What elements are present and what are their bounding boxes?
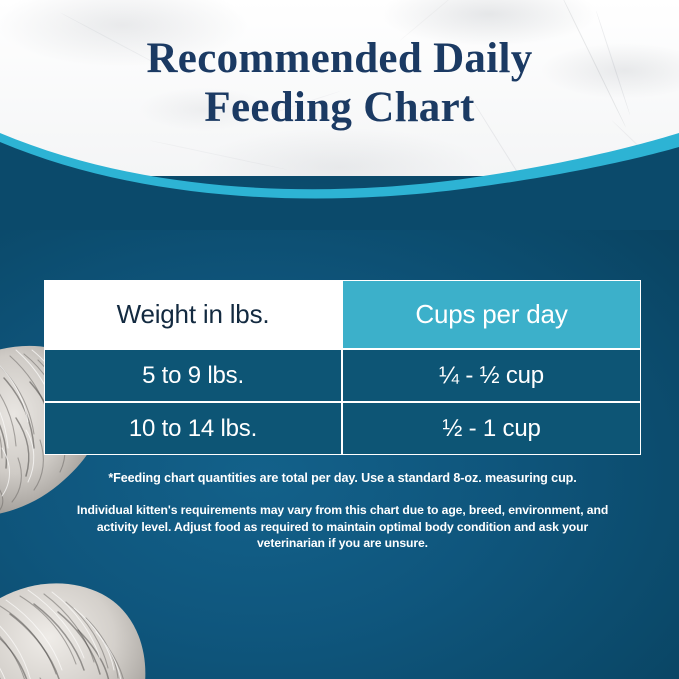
- footnote-secondary: Individual kitten's requirements may var…: [44, 502, 641, 552]
- page-title: Recommended Daily Feeding Chart: [0, 34, 679, 132]
- page-title-line-2: Feeding Chart: [0, 83, 679, 132]
- table-header-cups: Cups per day: [342, 280, 641, 349]
- page-title-line-1: Recommended Daily: [0, 34, 679, 83]
- table-row: 10 to 14 lbs. ½ - 1 cup: [44, 402, 641, 455]
- table-cell-cups: ¼ - ½ cup: [342, 349, 641, 402]
- feeding-chart-page: Recommended Daily Feeding Chart: [0, 0, 679, 679]
- marble-vein: [150, 140, 287, 170]
- table-row: 5 to 9 lbs. ¼ - ½ cup: [44, 349, 641, 402]
- table-cell-weight: 10 to 14 lbs.: [44, 402, 342, 455]
- footnote-primary: *Feeding chart quantities are total per …: [44, 470, 641, 486]
- feeding-chart-table: Weight in lbs. Cups per day 5 to 9 lbs. …: [44, 280, 641, 455]
- table-cell-cups: ½ - 1 cup: [342, 402, 641, 455]
- footnotes: *Feeding chart quantities are total per …: [44, 470, 641, 552]
- table-header-weight: Weight in lbs.: [44, 280, 342, 349]
- table-cell-weight: 5 to 9 lbs.: [44, 349, 342, 402]
- table-header-row: Weight in lbs. Cups per day: [44, 280, 641, 349]
